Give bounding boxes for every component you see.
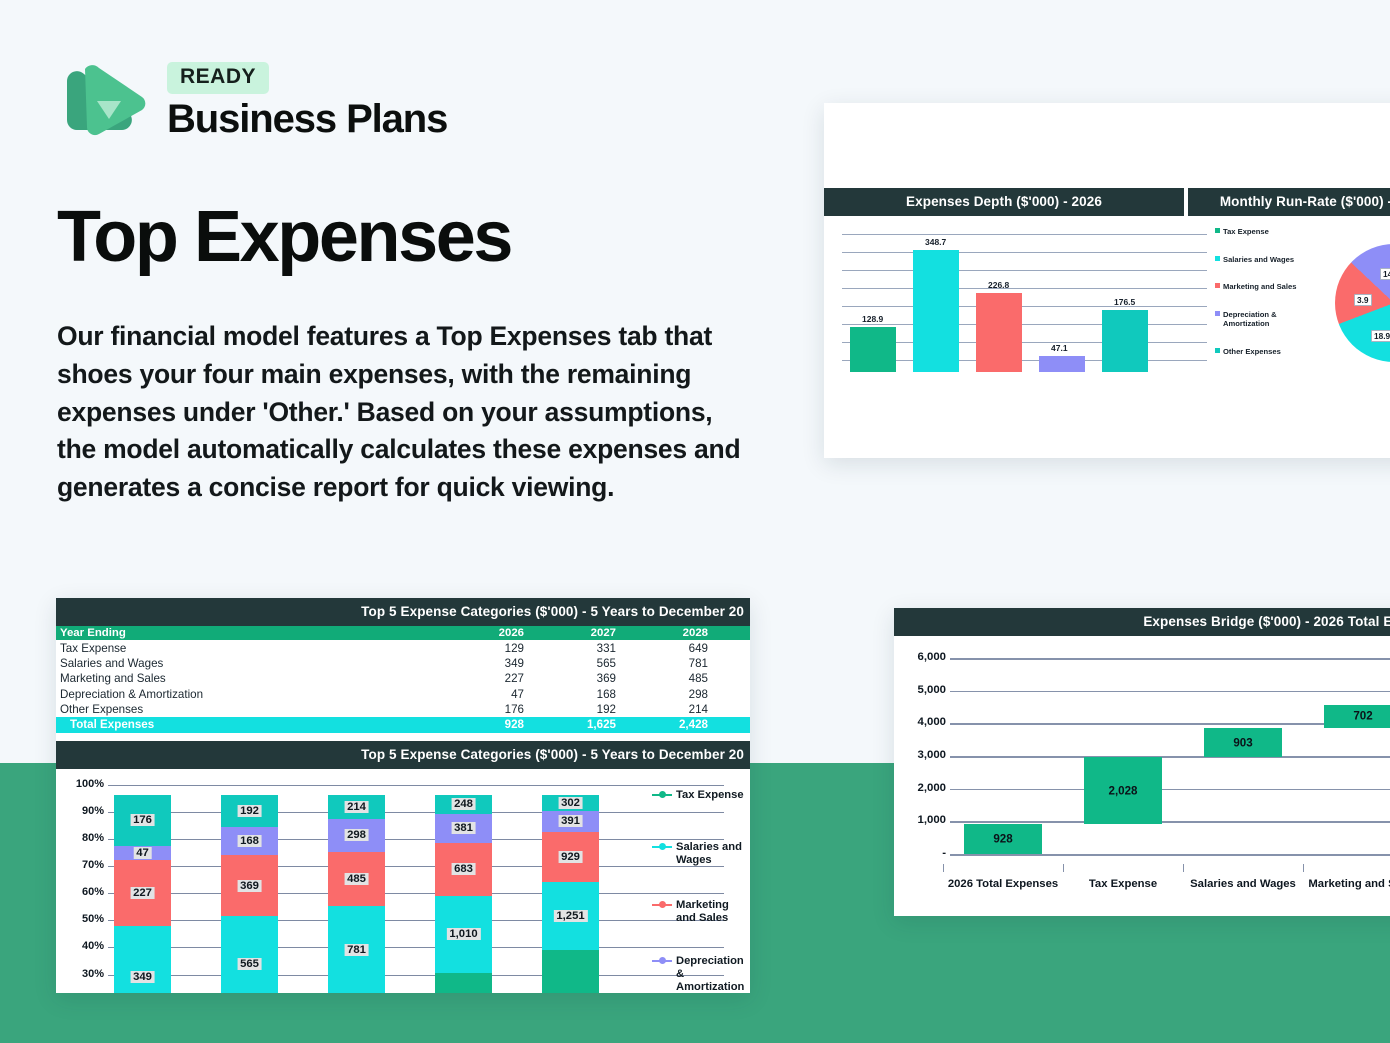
legend-swatch [1215,283,1220,288]
y-axis-tick: 50% [62,913,104,925]
pie-label-small: 3.9 [1354,294,1372,306]
segment-value-label: 565 [237,958,262,970]
grid-line [108,785,724,786]
stack-segment: 369 [221,855,278,917]
legend-item: Marketing and Sales [1215,282,1319,291]
legend-label: Marketing and Sales [676,899,748,925]
segment-value-label: 298 [344,829,369,841]
stack-segment: 565 [221,916,278,993]
y-axis-tick: 5,000 [898,684,946,696]
stacked-column: 17647227349 [114,795,171,993]
stacked-column: 214298485781 [328,795,385,993]
table-total-row: Total Expenses9281,6252,4283,5285,030 [56,717,750,732]
legend-item: Salaries and Wages [652,841,748,867]
grid-line [108,893,724,894]
legend-marker [652,842,672,852]
ready-badge: READY [167,62,269,94]
stack-segment: 192 [221,795,278,827]
page-title: Top Expenses [57,196,511,278]
legend-label: Marketing and Sales [1223,282,1296,291]
legend-label: Tax Expense [676,789,744,802]
table-cell: 649 [620,640,712,655]
y-axis-tick: 60% [62,886,104,898]
legend-label: Tax Expense [1223,227,1269,236]
table-cell: 1,206 [712,640,750,655]
pie-label-salaries: 18.9 [1371,330,1390,342]
stack-segment: 781 [328,906,385,993]
column-header: 2026 [436,626,528,640]
table-row: Marketing and Sales227369485683929 [56,671,750,686]
table-cell: 331 [528,640,620,655]
bar [1039,356,1085,372]
legend-label: Other Expenses [1223,347,1281,356]
legend-item: Depreciation & Amortization [1215,310,1319,329]
monthly-runrate-pie-chart: 10.7 14.7 3.9 18.9 [1319,222,1390,384]
bar-value-label: 928 [993,832,1012,845]
table-cell: 176 [436,702,528,717]
table-cell: 227 [436,671,528,686]
expenses-bridge-waterfall-chart: 6,0005,0004,0003,0002,0001,000-9282026 T… [894,636,1390,894]
segment-value-label: 192 [237,805,262,817]
y-axis-tick: 40% [62,940,104,952]
segment-value-label: 349 [130,971,155,983]
bar-value-label: 47.1 [1051,343,1068,353]
y-axis-tick: - [898,847,946,859]
segment-value-label: 485 [344,873,369,885]
row-label: Depreciation & Amortization [56,687,436,702]
bar-value-label: 702 [1353,710,1372,723]
y-axis-tick: 1,000 [898,814,946,826]
stacked-column: 2483816831,010 [435,795,492,993]
brand-name: Business Plans [167,98,447,140]
column-header: Year Ending [56,626,436,640]
y-axis-tick: 30% [62,968,104,980]
waterfall-bar: 903 [1204,728,1282,757]
legend-label: Depreciation & Amortization [676,955,748,993]
table-header-row: Year Ending20262027202820292030 [56,626,750,640]
y-axis-tick: 90% [62,805,104,817]
stack-segment: 298 [328,819,385,852]
table-row: Salaries and Wages3495657811,0101,251 [56,656,750,671]
expenses-depth-title: Expenses Depth ($'000) - 2026 [824,188,1184,216]
stack-segment: 929 [542,832,599,882]
top5-expense-card: Top 5 Expense Categories ($'000) - 5 Yea… [56,598,750,993]
top-card-title-row: Expenses Depth ($'000) - 2026 Monthly Ru… [824,188,1390,216]
legend-item: Tax Expense [1215,227,1319,236]
x-axis-label: Salaries and Wages [1184,878,1302,890]
grid-line [842,360,1207,361]
table-cell: 683 [712,671,750,686]
legend-item: Salaries and Wages [1215,255,1319,264]
legend-item: Marketing and Sales [652,899,748,925]
stack-segment: 168 [221,827,278,855]
total-cell: 3,528 [712,717,750,732]
segment-value-label: 391 [558,815,583,827]
axis-tick [1063,864,1064,872]
y-axis-tick: 80% [62,832,104,844]
top-card-body: 128.9348.7226.847.1176.5 Tax ExpenseSala… [824,216,1390,384]
legend-item: Other Expenses [1215,347,1319,356]
grid-line [950,756,1390,758]
expenses-depth-bar-chart: 128.9348.7226.847.1176.5 [842,222,1207,384]
grid-line [842,288,1207,289]
table-cell: 369 [528,671,620,686]
column-header: 2029 [712,626,750,640]
stack-segment: 248 [435,795,492,814]
stack-segment: 1,010 [435,896,492,974]
bar [913,250,959,372]
monthly-runrate-title: Monthly Run-Rate ($'000) - [1188,188,1390,216]
segment-value-label: 176 [130,814,155,826]
waterfall-bar: 2,028 [1084,757,1162,823]
stack-segment [435,973,492,993]
waterfall-bar: 928 [964,824,1042,854]
table-row: Depreciation & Amortization4716829838139… [56,687,750,702]
expenses-depth-legend: Tax ExpenseSalaries and WagesMarketing a… [1207,222,1319,384]
bar-value-label: 2,028 [1108,784,1137,797]
column-header: 2027 [528,626,620,640]
legend-label: Depreciation & Amortization [1223,310,1319,329]
y-axis-tick: 70% [62,859,104,871]
total-cell: 2,428 [620,717,712,732]
page-description: Our financial model features a Top Expen… [57,318,757,507]
stack-segment: 1,251 [542,882,599,950]
total-label: Total Expenses [56,717,436,732]
bar-value-label: 176.5 [1114,297,1135,307]
segment-value-label: 929 [558,851,583,863]
table-cell: 192 [528,702,620,717]
bar-value-label: 128.9 [862,314,883,324]
table-cell: 129 [436,640,528,655]
grid-line [842,234,1207,235]
table-cell: 781 [620,656,712,671]
legend-item: Depreciation & Amortization [652,955,748,993]
table-cell: 1,010 [712,656,750,671]
table-cell: 381 [712,687,750,702]
grid-line [108,812,724,813]
legend-marker [652,956,672,966]
stack-segment: 227 [114,860,171,926]
grid-line [950,658,1390,660]
x-axis-label: Marketing and Sales [1304,878,1390,890]
total-cell: 1,625 [528,717,620,732]
y-axis-tick: 2,000 [898,782,946,794]
y-axis-tick: 6,000 [898,651,946,663]
grid-line [842,270,1207,271]
axis-tick [1303,864,1304,872]
segment-value-label: 381 [451,822,476,834]
grid-line [108,866,724,867]
axis-tick [1183,864,1184,872]
row-label: Tax Expense [56,640,436,655]
legend-item: Tax Expense [652,789,744,802]
stack-segment: 683 [435,843,492,896]
top5-stacked-bar-chart: 100%90%80%70%60%50%40%30%176472273491921… [56,769,750,993]
brand-lockup: READY Business Plans [57,55,447,147]
table-cell: 47 [436,687,528,702]
legend-swatch [1215,228,1220,233]
grid-line [842,306,1207,307]
row-label: Salaries and Wages [56,656,436,671]
segment-value-label: 1,251 [553,910,587,922]
table-cell: 168 [528,687,620,702]
grid-line [842,324,1207,325]
stack-segment: 391 [542,811,599,832]
x-axis-label: Tax Expense [1064,878,1182,890]
axis-tick [943,864,944,872]
legend-marker [652,900,672,910]
table-cell: 214 [620,702,712,717]
segment-value-label: 227 [130,887,155,899]
x-axis-label: 2026 Total Expenses [944,878,1062,890]
stack-segment: 349 [114,926,171,993]
y-axis-tick: 4,000 [898,716,946,728]
segment-value-label: 214 [344,801,369,813]
row-label: Other Expenses [56,702,436,717]
y-axis-tick: 3,000 [898,749,946,761]
grid-line [108,920,724,921]
legend-swatch [1215,311,1220,316]
row-label: Marketing and Sales [56,671,436,686]
table-cell: 565 [528,656,620,671]
grid-line [108,947,724,948]
table-cell: 349 [436,656,528,671]
legend-label: Salaries and Wages [1223,255,1294,264]
table-cell: 248 [712,702,750,717]
bar-value-label: 348.7 [925,237,946,247]
segment-value-label: 248 [451,798,476,810]
grid-line [108,839,724,840]
segment-value-label: 302 [558,797,583,809]
column-header: 2028 [620,626,712,640]
top5-expense-table: Year Ending20262027202820292030Tax Expen… [56,626,750,733]
segment-value-label: 683 [451,863,476,875]
legend-swatch [1215,348,1220,353]
table-cell: 485 [620,671,712,686]
expenses-depth-card: Expenses Depth ($'000) - 2026 Monthly Ru… [824,103,1390,458]
stacked-column: 192168369565 [221,795,278,993]
segment-value-label: 168 [237,835,262,847]
stack-segment [542,950,599,993]
grid-line [842,342,1207,343]
table-cell: 298 [620,687,712,702]
segment-value-label: 1,010 [446,928,480,940]
top5-chart-title: Top 5 Expense Categories ($'000) - 5 Yea… [56,741,750,769]
bar-value-label: 903 [1233,736,1252,749]
grid-line [950,854,1390,856]
stacked-column: 3023919291,251 [542,795,599,993]
grid-line [950,821,1390,823]
stack-segment: 485 [328,852,385,906]
segment-value-label: 781 [344,944,369,956]
legend-label: Salaries and Wages [676,841,748,867]
y-axis-tick: 100% [62,778,104,790]
waterfall-bar: 702 [1324,705,1390,728]
bar [976,293,1022,372]
pie-label-marketing: 14.7 [1380,268,1390,280]
stack-segment: 381 [435,814,492,843]
bridge-title: Expenses Bridge ($'000) - 2026 Total Exp… [894,608,1390,636]
bar [850,327,896,372]
table-row: Tax Expense1293316491,2062,157 [56,640,750,655]
total-cell: 928 [436,717,528,732]
expenses-bridge-card: Expenses Bridge ($'000) - 2026 Total Exp… [894,608,1390,916]
table-row: Other Expenses176192214248302 [56,702,750,717]
legend-marker [652,790,672,800]
segment-value-label: 369 [237,880,262,892]
bar [1102,310,1148,372]
legend-swatch [1215,256,1220,261]
stack-segment: 214 [328,795,385,819]
stack-segment: 176 [114,795,171,846]
grid-line [950,691,1390,693]
stack-segment: 302 [542,795,599,811]
top5-table-title: Top 5 Expense Categories ($'000) - 5 Yea… [56,598,750,626]
grid-line [842,252,1207,253]
stack-segment: 47 [114,846,171,860]
grid-line [108,975,724,976]
segment-value-label: 47 [133,847,152,859]
play-triangle-logo-icon [57,55,149,147]
bar-value-label: 226.8 [988,280,1009,290]
grid-line [950,789,1390,791]
